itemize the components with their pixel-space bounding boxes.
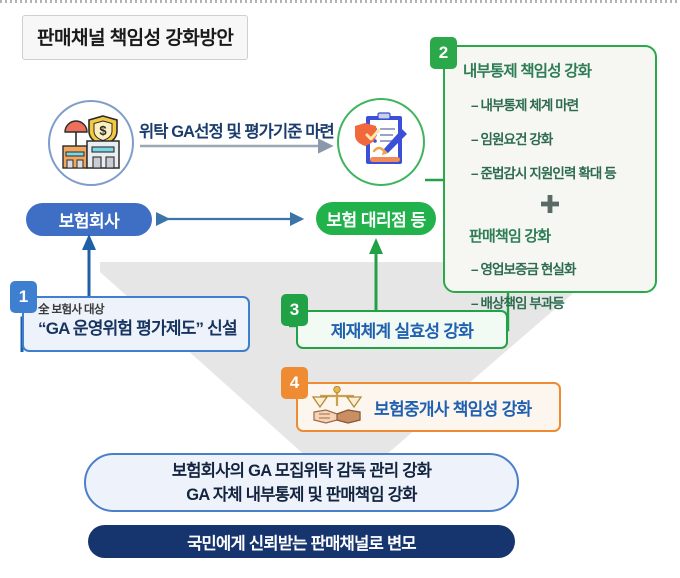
measure-badge-1: 1 bbox=[10, 281, 37, 313]
final-banner-label: 국민에게 신뢰받는 판매채널로 변모 bbox=[187, 530, 416, 554]
scales-handshake-icon bbox=[310, 386, 364, 428]
infographic-canvas: 판매채널 책임성 강화방안 $ bbox=[0, 0, 680, 578]
measure-box-3[interactable]: 제재체계 실효성 강화 bbox=[296, 310, 508, 349]
panel-2-item: – 준법감시 지원인력 확대 등 bbox=[463, 162, 655, 182]
clipboard-check-icon bbox=[337, 98, 425, 186]
panel-2-subheading: 판매책임 강화 bbox=[469, 225, 655, 246]
measure-box-4-label: 보험중개사 책임성 강화 bbox=[374, 395, 531, 420]
measure-box-1-label: “GA 운영위험 평가제도” 신설 bbox=[38, 317, 248, 341]
measure-panel-2[interactable]: 내부통제 책임성 강화 – 내부통제 체계 마련 – 임원요건 강화 – 준법감… bbox=[443, 45, 657, 293]
panel-2-item: – 내부통제 체계 마련 bbox=[463, 94, 655, 114]
measure-box-4[interactable]: 보험중개사 책임성 강화 bbox=[296, 382, 561, 432]
final-banner: 국민에게 신뢰받는 판매채널로 변모 bbox=[88, 525, 515, 558]
summary-line-1: 보험회사의 GA 모집위탁 감독 관리 강화 bbox=[172, 459, 431, 483]
measure-box-3-label: 제재체계 실효성 강화 bbox=[331, 317, 474, 342]
measure-badge-3: 3 bbox=[281, 294, 308, 326]
summary-banner: 보험회사의 GA 모집위탁 감독 관리 강화 GA 자체 내부통제 및 판매책임… bbox=[84, 453, 519, 512]
page-title: 판매채널 책임성 강화방안 bbox=[22, 15, 248, 60]
measure-box-1-sublabel: 全 보험사 대상 bbox=[38, 303, 248, 317]
panel-2-subitem: – 배상책임 부과등 bbox=[463, 292, 655, 312]
top-dotted-divider bbox=[0, 0, 680, 3]
insurer-pill[interactable]: 보험회사 bbox=[26, 203, 152, 236]
svg-text:$: $ bbox=[99, 123, 107, 138]
panel-2-subitem: – 영업보증금 현실화 bbox=[463, 258, 655, 278]
delegate-arrow-label: 위탁 GA선정 및 평가기준 마련 bbox=[139, 118, 334, 142]
measure-badge-4: 4 bbox=[281, 367, 308, 399]
panel-2-item: – 임원요건 강화 bbox=[463, 128, 655, 148]
insurance-building-icon: $ bbox=[48, 100, 134, 186]
measure-box-1[interactable]: 全 보험사 대상 “GA 운영위험 평가제도” 신설 bbox=[22, 296, 250, 352]
plus-separator-icon bbox=[463, 194, 637, 221]
measure-badge-2: 2 bbox=[430, 37, 457, 69]
agency-pill[interactable]: 보험 대리점 등 bbox=[316, 202, 436, 235]
summary-line-2: GA 자체 내부통제 및 판매책임 강화 bbox=[186, 483, 416, 507]
panel-2-heading: 내부통제 책임성 강화 bbox=[463, 59, 655, 81]
